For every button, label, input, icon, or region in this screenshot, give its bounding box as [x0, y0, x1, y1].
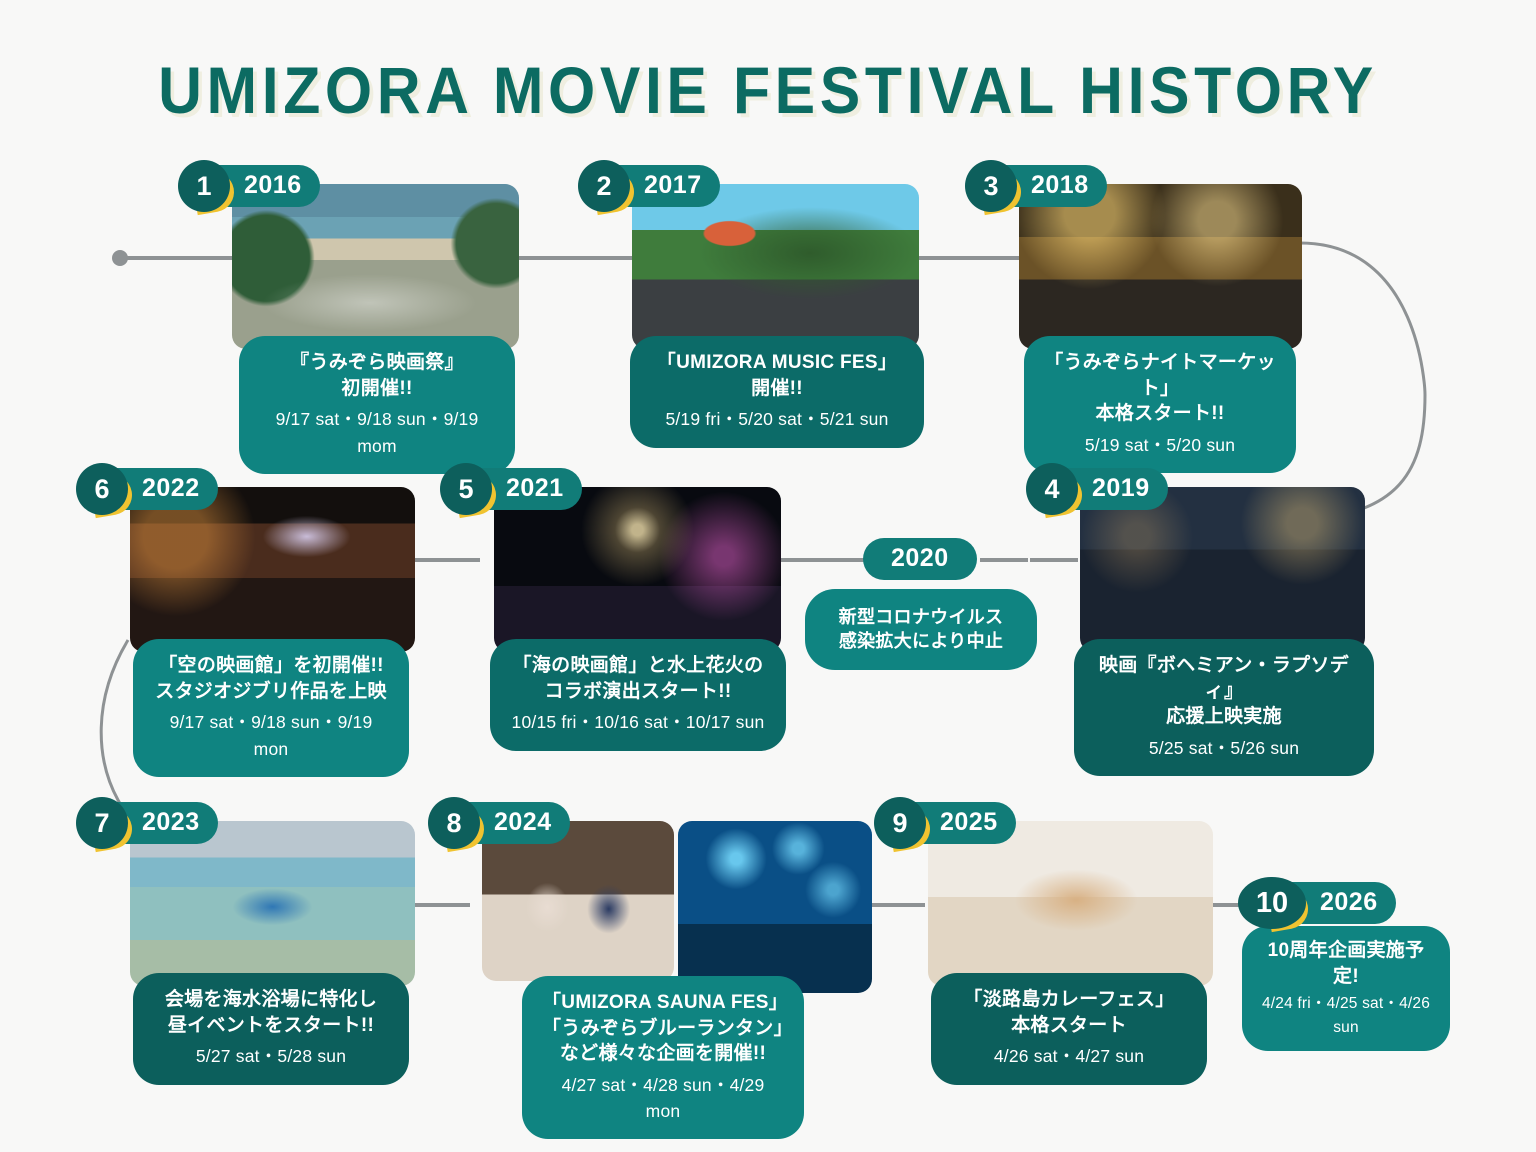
node-photos[interactable] — [482, 821, 872, 993]
caption-line: 本格スタート — [951, 1013, 1187, 1039]
node-badge-2017: 2 2017 — [578, 163, 720, 209]
caption-line: スタジオジブリ作品を上映 — [153, 679, 389, 705]
badge-circle-wrap: 2 — [578, 160, 630, 212]
caption-line: 「空の映画館」を初開催!! — [153, 653, 389, 679]
node-badge-2019: 4 2019 — [1026, 466, 1168, 512]
node-caption: 「空の映画館」を初開催!! スタジオジブリ作品を上映 9/17 sat・9/18… — [133, 639, 409, 777]
node-caption: 「UMIZORA SAUNA FES」 「うみぞらブルーランタン」 など様々な企… — [522, 976, 804, 1139]
year-pill-2020: 2020 — [863, 538, 977, 580]
node-number: 9 — [874, 797, 926, 849]
caption-dates: 4/27 sat・4/28 sun・4/29 mon — [542, 1072, 784, 1125]
node-year: 2017 — [644, 173, 702, 200]
node-badge-2025: 9 2025 — [874, 800, 1016, 846]
caption-line: 感染拡大により中止 — [823, 629, 1019, 653]
caption-dates: 9/17 sat・9/18 sun・9/19 mom — [259, 406, 495, 459]
caption-line: など様々な企画を開催!! — [542, 1041, 784, 1067]
caption-dates: 5/19 fri・5/20 sat・5/21 sun — [650, 406, 904, 432]
caption-dates: 10/15 fri・10/16 sat・10/17 sun — [510, 709, 766, 735]
node-badge-2021: 5 2021 — [440, 466, 582, 512]
node-badge-2016: 1 2016 — [178, 163, 320, 209]
caption-line: 「海の映画館」と水上花火の — [510, 653, 766, 679]
node-number: 10 — [1238, 877, 1306, 929]
node-number: 6 — [76, 463, 128, 515]
badge-circle-wrap: 8 — [428, 797, 480, 849]
caption-line: 会場を海水浴場に特化し — [153, 987, 389, 1013]
node-caption: 新型コロナウイルス 感染拡大により中止 — [805, 589, 1037, 670]
caption-line: 「UMIZORA SAUNA FES」 — [542, 990, 784, 1016]
node-year: 2019 — [1092, 476, 1150, 503]
badge-circle-wrap: 9 — [874, 797, 926, 849]
node-caption: 映画『ボヘミアン・ラプソディ』 応援上映実施 5/25 sat・5/26 sun — [1074, 639, 1374, 776]
node-year: 2024 — [494, 810, 552, 837]
node-number: 7 — [76, 797, 128, 849]
node-number: 4 — [1026, 463, 1078, 515]
caption-dates: 4/24 fri・4/25 sat・4/26 sun — [1256, 992, 1436, 1039]
node-number: 5 — [440, 463, 492, 515]
node-caption: 『うみぞら映画祭』 初開催!! 9/17 sat・9/18 sun・9/19 m… — [239, 336, 515, 474]
timeline-start-dot — [112, 250, 128, 266]
node-number: 8 — [428, 797, 480, 849]
node-year: 2020 — [891, 546, 949, 573]
badge-circle-wrap: 3 — [965, 160, 1017, 212]
caption-line: 「うみぞらナイトマーケット」 — [1044, 350, 1276, 401]
caption-line: 応援上映実施 — [1094, 704, 1354, 730]
node-year: 2026 — [1320, 890, 1378, 917]
node-badge-2018: 3 2018 — [965, 163, 1107, 209]
caption-line: 10周年企画実施予定! — [1256, 938, 1436, 989]
node-caption: 10周年企画実施予定! 4/24 fri・4/25 sat・4/26 sun — [1242, 926, 1450, 1051]
caption-line: 『うみぞら映画祭』 — [259, 350, 495, 376]
node-badge-2023: 7 2023 — [76, 800, 218, 846]
node-year: 2022 — [142, 476, 200, 503]
caption-line: 新型コロナウイルス — [823, 605, 1019, 629]
badge-circle-wrap: 10 — [1238, 877, 1306, 929]
node-number: 1 — [178, 160, 230, 212]
caption-line: 初開催!! — [259, 376, 495, 402]
caption-line: 開催!! — [650, 376, 904, 402]
caption-dates: 4/26 sat・4/27 sun — [951, 1043, 1187, 1069]
node-number: 2 — [578, 160, 630, 212]
page-title: UMIZORA MOVIE FESTIVAL HISTORY — [61, 52, 1474, 128]
caption-line: 昼イベントをスタート!! — [153, 1013, 389, 1039]
caption-line: 本格スタート!! — [1044, 401, 1276, 427]
node-year: 2021 — [506, 476, 564, 503]
caption-dates: 5/19 sat・5/20 sun — [1044, 432, 1276, 458]
node-badge-2022: 6 2022 — [76, 466, 218, 512]
caption-dates: 5/27 sat・5/28 sun — [153, 1043, 389, 1069]
badge-circle-wrap: 5 — [440, 463, 492, 515]
caption-line: 映画『ボヘミアン・ラプソディ』 — [1094, 653, 1354, 704]
node-caption: 「うみぞらナイトマーケット」 本格スタート!! 5/19 sat・5/20 su… — [1024, 336, 1296, 473]
caption-line: 「UMIZORA MUSIC FES」 — [650, 350, 904, 376]
infographic-canvas: UMIZORA MOVIE FESTIVAL HISTORY 1 — [0, 0, 1536, 1152]
caption-line: 「うみぞらブルーランタン」 — [542, 1016, 784, 1042]
node-number: 3 — [965, 160, 1017, 212]
badge-circle-wrap: 1 — [178, 160, 230, 212]
caption-line: コラボ演出スタート!! — [510, 679, 766, 705]
badge-circle-wrap: 4 — [1026, 463, 1078, 515]
node-year: 2025 — [940, 810, 998, 837]
node-badge-2026: 10 2026 — [1238, 880, 1396, 926]
caption-dates: 9/17 sat・9/18 sun・9/19 mon — [153, 709, 389, 762]
node-year: 2023 — [142, 810, 200, 837]
node-badge-2024: 8 2024 — [428, 800, 570, 846]
node-caption: 「海の映画館」と水上花火の コラボ演出スタート!! 10/15 fri・10/1… — [490, 639, 786, 751]
node-year: 2018 — [1031, 173, 1089, 200]
node-year: 2016 — [244, 173, 302, 200]
blue-lantern-bubbles-photo[interactable] — [678, 821, 872, 993]
caption-dates: 5/25 sat・5/26 sun — [1094, 735, 1354, 761]
node-caption: 「淡路島カレーフェス」 本格スタート 4/26 sat・4/27 sun — [931, 973, 1207, 1085]
node-caption: 「UMIZORA MUSIC FES」 開催!! 5/19 fri・5/20 s… — [630, 336, 924, 448]
badge-circle-wrap: 6 — [76, 463, 128, 515]
caption-line: 「淡路島カレーフェス」 — [951, 987, 1187, 1013]
node-caption: 会場を海水浴場に特化し 昼イベントをスタート!! 5/27 sat・5/28 s… — [133, 973, 409, 1085]
badge-circle-wrap: 7 — [76, 797, 128, 849]
